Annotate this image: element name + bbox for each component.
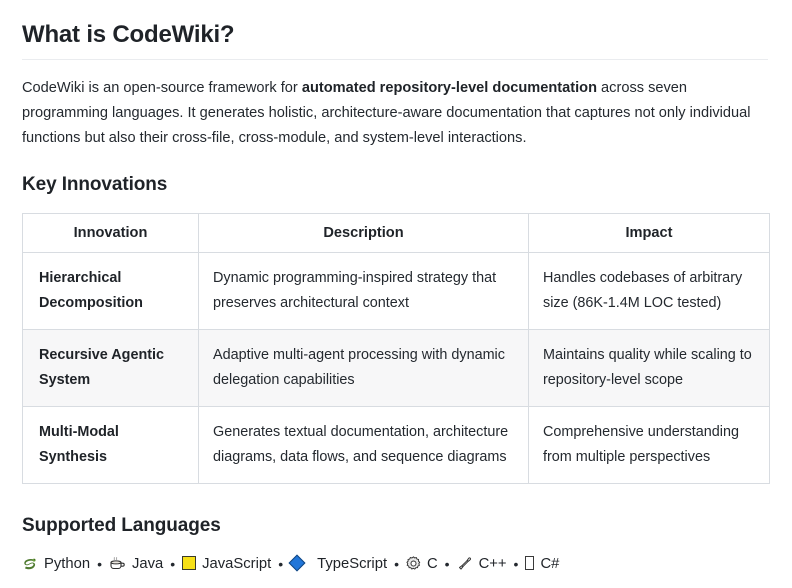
cell-innovation: Recursive Agentic System <box>23 329 199 406</box>
language-label: C <box>427 553 438 575</box>
intro-text-before: CodeWiki is an open-source framework for <box>22 80 302 96</box>
language-label: Java <box>132 553 163 575</box>
cell-impact: Maintains quality while scaling to repos… <box>529 329 770 406</box>
page-title: What is CodeWiki? <box>22 20 768 60</box>
language-item-python: Python <box>22 553 90 575</box>
document-page: What is CodeWiki? CodeWiki is an open-so… <box>0 0 792 575</box>
table-header-row: Innovation Description Impact <box>23 213 770 252</box>
supported-languages-list: Python • Java • JavaScript • TypeScript <box>22 553 768 575</box>
cell-description: Dynamic programming-inspired strategy th… <box>199 252 529 329</box>
language-label: C# <box>540 553 559 575</box>
cell-description: Adaptive multi-agent processing with dyn… <box>199 329 529 406</box>
language-label: JavaScript <box>202 553 271 575</box>
cell-description: Generates textual documentation, archite… <box>199 406 529 483</box>
section-title-key-innovations: Key Innovations <box>22 173 768 197</box>
table-row: Multi-Modal Synthesis Generates textual … <box>23 406 770 483</box>
yellow-square-icon <box>182 556 196 571</box>
language-item-javascript: JavaScript <box>182 553 271 575</box>
language-item-typescript: TypeScript <box>290 553 387 575</box>
separator-dot: • <box>170 553 175 575</box>
separator-dot: • <box>514 553 519 575</box>
intro-bold-phrase: automated repository-level documentation <box>302 80 597 96</box>
language-item-java: Java <box>109 553 163 575</box>
screwdriver-icon <box>457 556 473 571</box>
separator-dot: • <box>278 553 283 575</box>
coffee-cup-icon <box>109 556 126 571</box>
blue-diamond-icon <box>290 556 311 572</box>
separator-dot: • <box>97 553 102 575</box>
separator-dot: • <box>445 553 450 575</box>
table-row: Recursive Agentic System Adaptive multi-… <box>23 329 770 406</box>
cell-impact: Handles codebases of arbitrary size (86K… <box>529 252 770 329</box>
table-head: Innovation Description Impact <box>23 213 770 252</box>
language-label: TypeScript <box>317 553 387 575</box>
column-header-innovation: Innovation <box>23 213 199 252</box>
cell-innovation: Multi-Modal Synthesis <box>23 406 199 483</box>
key-innovations-table: Innovation Description Impact Hierarchic… <box>22 213 770 484</box>
column-header-impact: Impact <box>529 213 770 252</box>
language-item-csharp: C# <box>525 553 559 575</box>
table-body: Hierarchical Decomposition Dynamic progr… <box>23 252 770 483</box>
snake-icon <box>22 556 38 571</box>
cell-impact: Comprehensive understanding from multipl… <box>529 406 770 483</box>
language-label: C++ <box>479 553 507 575</box>
section-title-supported-languages: Supported Languages <box>22 514 768 538</box>
language-label: Python <box>44 553 90 575</box>
gear-icon <box>406 556 421 571</box>
separator-dot: • <box>394 553 399 575</box>
missing-glyph-icon <box>525 556 534 571</box>
table-row: Hierarchical Decomposition Dynamic progr… <box>23 252 770 329</box>
language-item-cpp: C++ <box>457 553 507 575</box>
language-item-c: C <box>406 553 438 575</box>
column-header-description: Description <box>199 213 529 252</box>
intro-paragraph: CodeWiki is an open-source framework for… <box>22 76 762 151</box>
cell-innovation: Hierarchical Decomposition <box>23 252 199 329</box>
